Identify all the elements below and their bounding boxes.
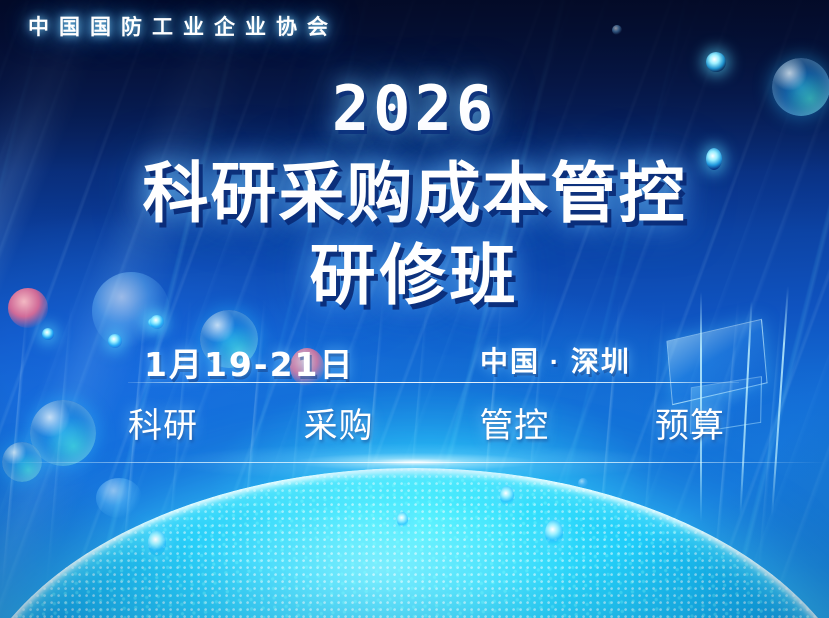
poster-title-line-2: 研修班 xyxy=(0,222,829,318)
keyword-item: 管控 xyxy=(479,398,549,447)
keyword-list: 科研 采购 管控 预算 xyxy=(128,398,725,447)
section-divider xyxy=(128,382,739,383)
poster-content: 中国国防工业企业协会 2026 科研采购成本管控 研修班 1月19-21日 中国… xyxy=(0,0,829,618)
association-name: 中国国防工业企业协会 xyxy=(28,11,338,41)
keyword-item: 采购 xyxy=(304,398,374,447)
event-location: 中国 · 深圳 xyxy=(480,340,631,380)
event-meta-row: 1月19-21日 中国 · 深圳 xyxy=(140,338,700,380)
keyword-item: 预算 xyxy=(655,398,725,447)
event-year: 2026 xyxy=(0,72,829,145)
event-poster: 中国国防工业企业协会 2026 科研采购成本管控 研修班 1月19-21日 中国… xyxy=(0,0,829,618)
event-date: 1月19-21日 xyxy=(144,338,355,386)
keyword-item: 科研 xyxy=(128,398,198,447)
